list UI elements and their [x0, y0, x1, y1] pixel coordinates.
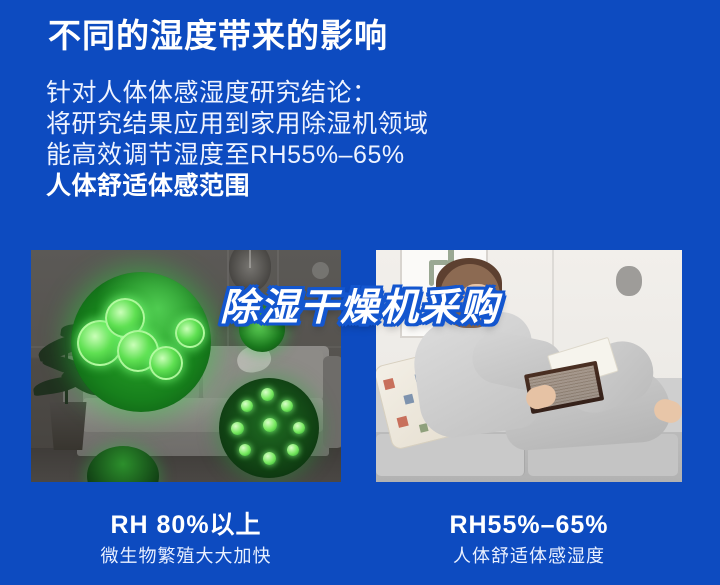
body-line-2: 将研究结果应用到家用除湿机领域 — [46, 109, 429, 140]
body-copy: 针对人体体感湿度研究结论： 将研究结果应用到家用除湿机领域 能高效调节湿度至RH… — [46, 78, 429, 202]
overlay-title: 除湿干燥机采购 — [0, 276, 720, 331]
pillow-motif — [383, 378, 395, 390]
caption-sub: 人体舒适体感湿度 — [376, 543, 682, 569]
virus-dot-icon — [293, 422, 305, 434]
body-line-3: 能高效调节湿度至RH55%–65% — [46, 140, 429, 171]
microbe-cell-icon — [149, 346, 183, 380]
caption-high-humidity: RH 80%以上 微生物繁殖大大加快 — [31, 510, 341, 569]
caption-sub: 微生物繁殖大大加快 — [31, 543, 341, 569]
virus-dot-icon — [239, 444, 251, 456]
pillow-motif — [397, 416, 409, 428]
virus-dot-icon — [287, 444, 299, 456]
virus-dot-icon — [231, 422, 244, 435]
caption-main: RH55%–65% — [376, 510, 682, 540]
caption-main: RH 80%以上 — [31, 510, 341, 540]
body-line-4: 人体舒适体感范围 — [46, 171, 429, 202]
sofa-arm-right — [323, 356, 341, 448]
body-line-1: 针对人体体感湿度研究结论： — [46, 78, 429, 109]
poster-root: 不同的湿度带来的影响 针对人体体感湿度研究结论： 将研究结果应用到家用除湿机领域… — [0, 0, 720, 585]
virus-dot-icon — [263, 452, 276, 465]
virus-sphere-icon — [219, 378, 319, 478]
pillow-motif — [403, 394, 414, 405]
page-title: 不同的湿度带来的影响 — [48, 16, 388, 56]
virus-dot-icon — [261, 388, 274, 401]
virus-dot-icon — [263, 418, 277, 432]
virus-dot-icon — [281, 400, 293, 412]
caption-comfort-humidity: RH55%–65% 人体舒适体感湿度 — [376, 510, 682, 569]
virus-dot-icon — [241, 400, 253, 412]
plant-pot-icon — [47, 402, 89, 450]
